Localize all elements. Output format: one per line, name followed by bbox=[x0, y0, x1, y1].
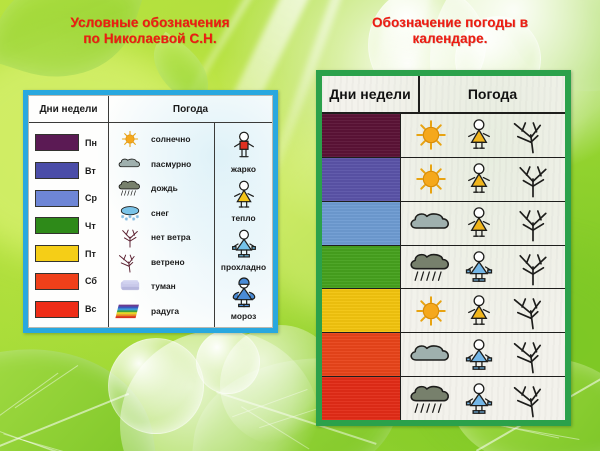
legend-day-row: Вс bbox=[29, 301, 108, 318]
person-cool-icon bbox=[457, 379, 509, 419]
person-warm-icon bbox=[457, 115, 509, 155]
day-color-swatch bbox=[35, 134, 79, 151]
legend-temperature-column: жаркотеплопрохладномороз bbox=[215, 123, 272, 327]
calendar-table-body bbox=[322, 114, 565, 420]
cloud-icon bbox=[405, 335, 457, 375]
calendar-weather-cell bbox=[401, 202, 565, 245]
calendar-table-card: Дни недели Погода bbox=[316, 70, 571, 426]
cloud-icon bbox=[405, 203, 457, 243]
legend-table-card: Дни недели Погода ПнВтСрЧтПтСбВс солнечн… bbox=[23, 90, 278, 333]
calm-tree-icon bbox=[509, 159, 561, 199]
weather-label: ветрено bbox=[151, 257, 185, 267]
legend-day-row: Вт bbox=[29, 162, 108, 179]
legend-weather-row: нет ветра bbox=[109, 226, 214, 249]
legend-weather-row: пасмурно bbox=[109, 152, 214, 175]
calendar-day-color-cell bbox=[322, 246, 401, 289]
windy-tree-icon bbox=[113, 251, 147, 273]
right-panel-title: Обозначение погоды в календаре. bbox=[330, 15, 570, 47]
day-color-swatch bbox=[35, 245, 79, 262]
calendar-row bbox=[322, 246, 565, 290]
snow-cloud-icon bbox=[113, 202, 147, 224]
right-title-line2: календаре. bbox=[330, 31, 570, 47]
weather-label: солнечно bbox=[151, 134, 190, 144]
legend-weather-row: снег bbox=[109, 201, 214, 224]
calendar-weather-cell bbox=[401, 289, 565, 332]
calm-tree-icon bbox=[509, 203, 561, 243]
temperature-label: прохладно bbox=[221, 262, 266, 272]
temperature-label: тепло bbox=[231, 213, 255, 223]
person-hot-icon bbox=[224, 129, 264, 163]
left-title-line1: Условные обозначения bbox=[30, 15, 270, 31]
decorative-bubble bbox=[196, 330, 260, 394]
day-color-swatch bbox=[35, 190, 79, 207]
legend-day-row: Ср bbox=[29, 190, 108, 207]
legend-temperature-cell: жарко bbox=[224, 129, 264, 174]
calendar-row bbox=[322, 114, 565, 158]
calendar-header-weather: Погода bbox=[420, 76, 565, 112]
sun-icon bbox=[113, 128, 147, 150]
calendar-weather-cell bbox=[401, 114, 565, 157]
calendar-row bbox=[322, 158, 565, 202]
weather-label: туман bbox=[151, 281, 176, 291]
legend-day-row: Сб bbox=[29, 273, 108, 290]
legend-weather-column: солнечнопасмурнодождьснегнет ветраветрен… bbox=[109, 123, 215, 327]
legend-day-row: Пн bbox=[29, 134, 108, 151]
calendar-header-days: Дни недели bbox=[322, 76, 420, 112]
rain-cloud-icon bbox=[405, 247, 457, 287]
calendar-weather-cell bbox=[401, 158, 565, 201]
legend-weather-row: дождь bbox=[109, 177, 214, 200]
legend-weather-row: солнечно bbox=[109, 128, 214, 151]
calendar-day-color-cell bbox=[322, 377, 401, 420]
day-label: Пт bbox=[85, 249, 96, 259]
weather-label: дождь bbox=[151, 183, 178, 193]
legend-table-body: ПнВтСрЧтПтСбВс солнечнопасмурнодождьснег… bbox=[29, 123, 272, 327]
legend-temperature-cell: мороз bbox=[224, 276, 264, 321]
sun-icon bbox=[405, 115, 457, 155]
day-label: Вт bbox=[85, 166, 96, 176]
right-title-line1: Обозначение погоды в bbox=[330, 15, 570, 31]
day-label: Пн bbox=[85, 138, 97, 148]
person-warm-icon bbox=[457, 203, 509, 243]
day-color-swatch bbox=[35, 217, 79, 234]
weather-label: радуга bbox=[151, 306, 179, 316]
legend-temperature-cell: тепло bbox=[224, 178, 264, 223]
windy-tree-icon bbox=[509, 291, 561, 331]
windy-tree-icon bbox=[509, 115, 561, 155]
person-cool-icon bbox=[457, 335, 509, 375]
calendar-day-color-cell bbox=[322, 158, 401, 201]
calm-tree-icon bbox=[113, 226, 147, 248]
sun-icon bbox=[405, 159, 457, 199]
day-label: Чт bbox=[85, 221, 96, 231]
weather-label: снег bbox=[151, 208, 169, 218]
temperature-label: жарко bbox=[231, 164, 256, 174]
fog-icon bbox=[113, 275, 147, 297]
calendar-day-color-cell bbox=[322, 289, 401, 332]
calendar-day-color-cell bbox=[322, 114, 401, 157]
day-label: Вс bbox=[85, 304, 97, 314]
calendar-day-color-cell bbox=[322, 202, 401, 245]
legend-day-row: Пт bbox=[29, 245, 108, 262]
calendar-row bbox=[322, 333, 565, 377]
day-label: Ср bbox=[85, 193, 97, 203]
day-color-swatch bbox=[35, 301, 79, 318]
legend-header-days: Дни недели bbox=[29, 96, 109, 122]
calendar-weather-cell bbox=[401, 333, 565, 376]
calm-tree-icon bbox=[509, 247, 561, 287]
weather-label: нет ветра bbox=[151, 232, 191, 242]
weather-label: пасмурно bbox=[151, 159, 191, 169]
day-color-swatch bbox=[35, 273, 79, 290]
cloud-icon bbox=[113, 153, 147, 175]
rainbow-icon bbox=[113, 300, 147, 322]
calendar-row bbox=[322, 377, 565, 420]
calendar-weather-cell bbox=[401, 246, 565, 289]
windy-tree-icon bbox=[509, 335, 561, 375]
legend-table-header-row: Дни недели Погода bbox=[29, 96, 272, 123]
person-warm-icon bbox=[224, 178, 264, 212]
legend-temperature-cell: прохладно bbox=[221, 227, 266, 272]
person-cool-icon bbox=[457, 247, 509, 287]
legend-table: Дни недели Погода ПнВтСрЧтПтСбВс солнечн… bbox=[28, 95, 273, 328]
person-warm-icon bbox=[457, 291, 509, 331]
calendar-weather-cell bbox=[401, 377, 565, 420]
day-color-swatch bbox=[35, 162, 79, 179]
legend-weather-row: радуга bbox=[109, 299, 214, 322]
calendar-table-header-row: Дни недели Погода bbox=[322, 76, 565, 114]
person-cool-icon bbox=[224, 227, 264, 261]
left-panel-title: Условные обозначения по Николаевой С.Н. bbox=[30, 15, 270, 47]
decorative-bubble bbox=[108, 338, 204, 434]
person-frost-icon bbox=[224, 276, 264, 310]
legend-days-column: ПнВтСрЧтПтСбВс bbox=[29, 123, 109, 327]
left-title-line2: по Николаевой С.Н. bbox=[30, 31, 270, 47]
person-warm-icon bbox=[457, 159, 509, 199]
windy-tree-icon bbox=[509, 379, 561, 419]
day-label: Сб bbox=[85, 276, 97, 286]
calendar-day-color-cell bbox=[322, 333, 401, 376]
legend-day-row: Чт bbox=[29, 217, 108, 234]
calendar-table: Дни недели Погода bbox=[322, 76, 565, 420]
legend-header-weather: Погода bbox=[109, 96, 272, 122]
calendar-row bbox=[322, 202, 565, 246]
rain-cloud-icon bbox=[113, 177, 147, 199]
sun-icon bbox=[405, 291, 457, 331]
legend-weather-row: туман bbox=[109, 275, 214, 298]
temperature-label: мороз bbox=[231, 311, 257, 321]
calendar-row bbox=[322, 289, 565, 333]
rain-cloud-icon bbox=[405, 379, 457, 419]
legend-weather-row: ветрено bbox=[109, 250, 214, 273]
